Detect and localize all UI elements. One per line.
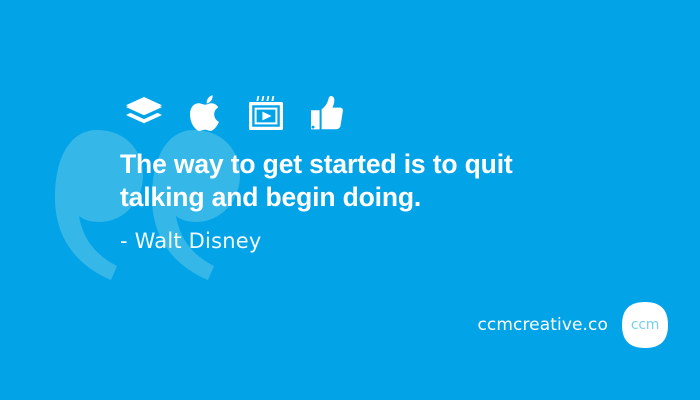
- apple-icon: [185, 93, 225, 133]
- brand-logo[interactable]: ccm: [622, 302, 668, 348]
- quote-author: - Walt Disney: [120, 228, 262, 254]
- footer-branding: ccmcreative.co ccm: [477, 302, 668, 348]
- brand-logo-text: ccm: [631, 317, 659, 333]
- quote-text: The way to get started is to quit talkin…: [120, 148, 550, 214]
- quote-card: The way to get started is to quit talkin…: [0, 0, 700, 400]
- layers-icon: [124, 93, 164, 133]
- thumbs-up-icon: [307, 93, 347, 133]
- site-url[interactable]: ccmcreative.co: [477, 315, 608, 335]
- icon-row: [124, 93, 347, 133]
- video-player-icon: [246, 93, 286, 133]
